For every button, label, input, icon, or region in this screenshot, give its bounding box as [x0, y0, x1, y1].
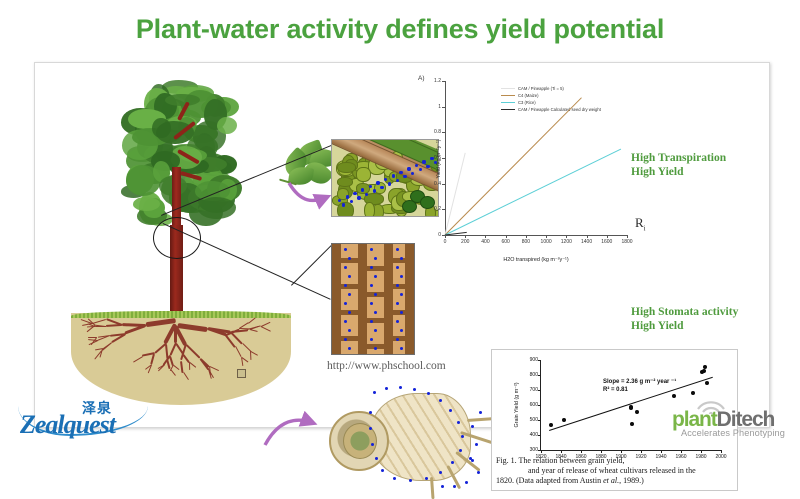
- xylem-perforation-plate: [410, 266, 415, 271]
- water-molecule-dot: [396, 320, 399, 323]
- chart-a-x-tick: [526, 235, 527, 238]
- chart-a-x-tick-label: 1000: [541, 239, 552, 245]
- chart-b-y-tick-label: 600: [530, 402, 538, 408]
- chart-b-data-point: [562, 418, 566, 422]
- chart-b-x-tick: [621, 450, 622, 453]
- root-disc: [329, 411, 389, 471]
- xylem-vessel-panel: [331, 243, 415, 355]
- xylem-perforation-plate: [384, 258, 410, 263]
- water-molecule-dot: [400, 275, 403, 278]
- r-symbol: R: [635, 215, 644, 230]
- chart-a-x-tick: [607, 235, 608, 238]
- water-molecule-dot: [373, 189, 376, 192]
- water-molecule-dot: [374, 311, 377, 314]
- zealquest-logo: Zealquest 泽泉: [20, 396, 152, 442]
- chart-a-x-tick: [627, 235, 628, 238]
- xylem-perforation-plate: [332, 258, 358, 263]
- root-to-section-arrow: [263, 415, 319, 449]
- chart-a-x-axis: [445, 235, 627, 236]
- water-molecule-dot: [396, 302, 399, 305]
- water-molecule-dot: [348, 347, 351, 350]
- water-molecule-dot: [370, 302, 373, 305]
- chart-b-data-point: [635, 410, 639, 414]
- water-molecule-dot: [374, 275, 377, 278]
- connector-line: [291, 245, 332, 286]
- water-molecule-dot: [370, 338, 373, 341]
- water-molecule-dot: [399, 171, 402, 174]
- water-molecule-dot: [441, 485, 444, 488]
- plantditech-logo: plantDitech Accelerates Phenotyping: [672, 400, 796, 444]
- water-molecule-dot: [381, 469, 384, 472]
- chart-a-y-tick-label: 0: [438, 232, 441, 238]
- chart-a-y-tick-label: 0.8: [434, 129, 441, 135]
- chart-a-x-tick: [485, 235, 486, 238]
- water-molecule-dot: [370, 248, 373, 251]
- chart-a-x-tick: [546, 235, 547, 238]
- chart-b-y-tick: [538, 435, 541, 436]
- water-molecule-dot: [348, 329, 351, 332]
- chart-b-y-tick-label: 900: [530, 357, 538, 363]
- chart-b-x-tick: [581, 450, 582, 453]
- chart-b-y-tick: [538, 360, 541, 361]
- chart-b-y-tick: [538, 420, 541, 421]
- chart-a-y-tick: [442, 81, 445, 82]
- caption-line-1: Fig. 1. The relation between grain yield…: [496, 456, 624, 465]
- xylem-perforation-plate: [358, 344, 384, 349]
- caption-italic: et al.: [603, 476, 619, 485]
- chart-b-data-point: [672, 394, 676, 398]
- water-molecule-dot: [475, 443, 478, 446]
- chart-a-x-tick-label: 800: [522, 239, 530, 245]
- water-molecule-dot: [357, 196, 360, 199]
- water-molecule-dot: [348, 275, 351, 278]
- chart-a-y-tick-label: 0.4: [434, 181, 441, 187]
- chart-a-x-axis-label: H2O transpired (kg m⁻²y⁻¹): [503, 257, 568, 263]
- water-molecule-dot: [344, 266, 347, 269]
- chart-a-y-tick: [442, 184, 445, 185]
- radiation-annotation: Ri: [635, 215, 646, 233]
- chart-a-x-tick-label: 1600: [601, 239, 612, 245]
- water-molecule-dot: [396, 248, 399, 251]
- chart-b-x-tick: [681, 450, 682, 453]
- chart-a-y-tick: [442, 132, 445, 133]
- water-molecule-dot: [385, 387, 388, 390]
- water-molecule-dot: [400, 329, 403, 332]
- chart-a-x-tick: [587, 235, 588, 238]
- water-molecule-dot: [396, 266, 399, 269]
- chart-b-x-tick: [641, 450, 642, 453]
- water-molecule-dot: [465, 481, 468, 484]
- chart-a-x-tick-label: 600: [501, 239, 509, 245]
- chart-b-data-point: [549, 423, 553, 427]
- chart-b-x-tick: [721, 450, 722, 453]
- callout-transpiration-line2: High Yield: [631, 166, 726, 180]
- chart-b-data-point: [629, 406, 633, 410]
- chart-b-y-tick-label: 800: [530, 372, 538, 378]
- xylem-perforation-plate: [410, 344, 415, 349]
- xylem-cell-wall: [358, 244, 367, 354]
- chart-b-y-tick: [538, 375, 541, 376]
- water-molecule-dot: [471, 459, 474, 462]
- callout-transpiration-line1: High Transpiration: [631, 152, 726, 166]
- water-molecule-dot: [374, 347, 377, 350]
- chart-a-x-tick: [465, 235, 466, 238]
- caption-line-4: , 1989.): [619, 476, 644, 485]
- water-molecule-dot: [346, 195, 349, 198]
- mesophyll-cell: [364, 202, 375, 217]
- water-molecule-dot: [373, 391, 376, 394]
- chart-b-y-tick-label: 500: [530, 417, 538, 423]
- chart-b-data-point: [702, 369, 706, 373]
- root-cross-section-panel: [321, 385, 481, 491]
- water-molecule-dot: [400, 347, 403, 350]
- water-molecule-dot: [392, 174, 395, 177]
- water-molecule-dot: [400, 293, 403, 296]
- page-title: Plant-water activity defines yield poten…: [0, 14, 800, 45]
- chart-a-x-tick: [445, 235, 446, 238]
- water-molecule-dot: [396, 179, 399, 182]
- callout-high-stomata-activity: High Stomata activity High Yield: [631, 306, 738, 333]
- water-molecule-dot: [413, 388, 416, 391]
- chart-a-y-tick: [442, 209, 445, 210]
- chart-a-panel-label: A): [418, 75, 425, 82]
- water-molecule-dot: [350, 200, 353, 203]
- caption-line-3: 1820. (Data adapted from Austin: [496, 476, 603, 485]
- chart-b-x-tick: [701, 450, 702, 453]
- chart-b-data-point: [630, 422, 634, 426]
- mesophyll-cell: [337, 202, 354, 217]
- callout-stomata-line2: High Yield: [631, 320, 738, 334]
- xylem-perforation-plate: [332, 310, 358, 315]
- water-molecule-dot: [388, 182, 391, 185]
- chart-b-y-tick-label: 300: [530, 447, 538, 453]
- water-molecule-dot: [380, 186, 383, 189]
- chart-a-y-tick-label: 0.6: [434, 155, 441, 161]
- water-molecule-dot: [342, 203, 345, 206]
- chart-b-caption: Fig. 1. The relation between grain yield…: [496, 456, 734, 486]
- chart-a-x-tick-label: 400: [481, 239, 489, 245]
- water-molecule-dot: [376, 181, 379, 184]
- guard-cell: [402, 200, 417, 213]
- water-molecule-dot: [393, 477, 396, 480]
- chart-a-x-tick: [566, 235, 567, 238]
- callout-stomata-line1: High Stomata activity: [631, 306, 738, 320]
- chart-a-plot-area: Yield (kg m⁻²y⁻¹) H2O transpired (kg m⁻²…: [445, 81, 627, 235]
- water-molecule-dot: [370, 284, 373, 287]
- water-molecule-dot: [344, 320, 347, 323]
- chart-a-y-tick-label: 1.2: [434, 78, 441, 84]
- chart-b-x-tick: [561, 450, 562, 453]
- chart-b-data-point: [691, 391, 695, 395]
- chart-b-x-tick: [601, 450, 602, 453]
- transpiration-yield-chart: A) Yield (kg m⁻²y⁻¹) H2O transpired (kg …: [417, 73, 645, 271]
- chart-b-x-tick: [661, 450, 662, 453]
- plantditech-tagline: Accelerates Phenotyping: [681, 428, 785, 438]
- callout-high-transpiration: High Transpiration High Yield: [631, 152, 726, 179]
- chart-b-data-point: [703, 365, 707, 369]
- caption-line-2: and year of release of wheat cultivars r…: [496, 466, 734, 476]
- xylem-perforation-plate: [358, 292, 384, 297]
- mesophyll-cell: [356, 167, 371, 181]
- chart-a-x-tick: [506, 235, 507, 238]
- chart-b-y-tick-label: 400: [530, 432, 538, 438]
- chart-a-x-tick-label: 1800: [621, 239, 632, 245]
- water-molecule-dot: [374, 257, 377, 260]
- chart-b-y-tick-label: 700: [530, 387, 538, 393]
- slide-content-panel: http://www.phschool.com A) Yield (kg m⁻²…: [34, 62, 770, 428]
- connector-line: [163, 223, 331, 300]
- chart-b-data-point: [705, 381, 709, 385]
- chart-a-y-tick: [442, 158, 445, 159]
- chart-a-x-tick-label: 0: [444, 239, 447, 245]
- chart-a-series-lines: [445, 81, 627, 235]
- chart-a-x-tick-label: 200: [461, 239, 469, 245]
- water-molecule-dot: [407, 167, 410, 170]
- water-molecule-dot: [348, 293, 351, 296]
- water-molecule-dot: [344, 302, 347, 305]
- zealquest-chinese-name: 泽泉: [82, 398, 112, 418]
- chart-b-y-tick: [538, 390, 541, 391]
- xylem-perforation-plate: [384, 310, 410, 315]
- chart-b-y-axis-label: Grain Yield (g m⁻²): [514, 382, 520, 427]
- chart-a-x-tick-label: 1400: [581, 239, 592, 245]
- water-molecule-dot: [399, 386, 402, 389]
- water-molecule-dot: [477, 471, 480, 474]
- r-subscript: i: [644, 225, 646, 233]
- chart-b-slope-text: Slope = 2.36 g m⁻² year ⁻¹: [603, 378, 676, 386]
- water-molecule-dot: [409, 479, 412, 482]
- chart-a-y-tick-label: 0.2: [434, 206, 441, 212]
- chart-a-x-tick-label: 1200: [561, 239, 572, 245]
- water-molecule-dot: [374, 329, 377, 332]
- leaf-to-section-arrow: [287, 181, 333, 205]
- chart-a-y-tick-label: 1: [438, 104, 441, 110]
- water-molecule-dot: [471, 425, 474, 428]
- xylem-perforation-plate: [410, 318, 415, 323]
- source-url-watermark: http://www.phschool.com: [327, 360, 446, 372]
- xylem-perforation-plate: [410, 292, 415, 297]
- chart-b-y-tick: [538, 405, 541, 406]
- chart-a-y-tick: [442, 107, 445, 108]
- water-molecule-dot: [344, 248, 347, 251]
- chart-b-x-tick: [541, 450, 542, 453]
- water-molecule-dot: [453, 485, 456, 488]
